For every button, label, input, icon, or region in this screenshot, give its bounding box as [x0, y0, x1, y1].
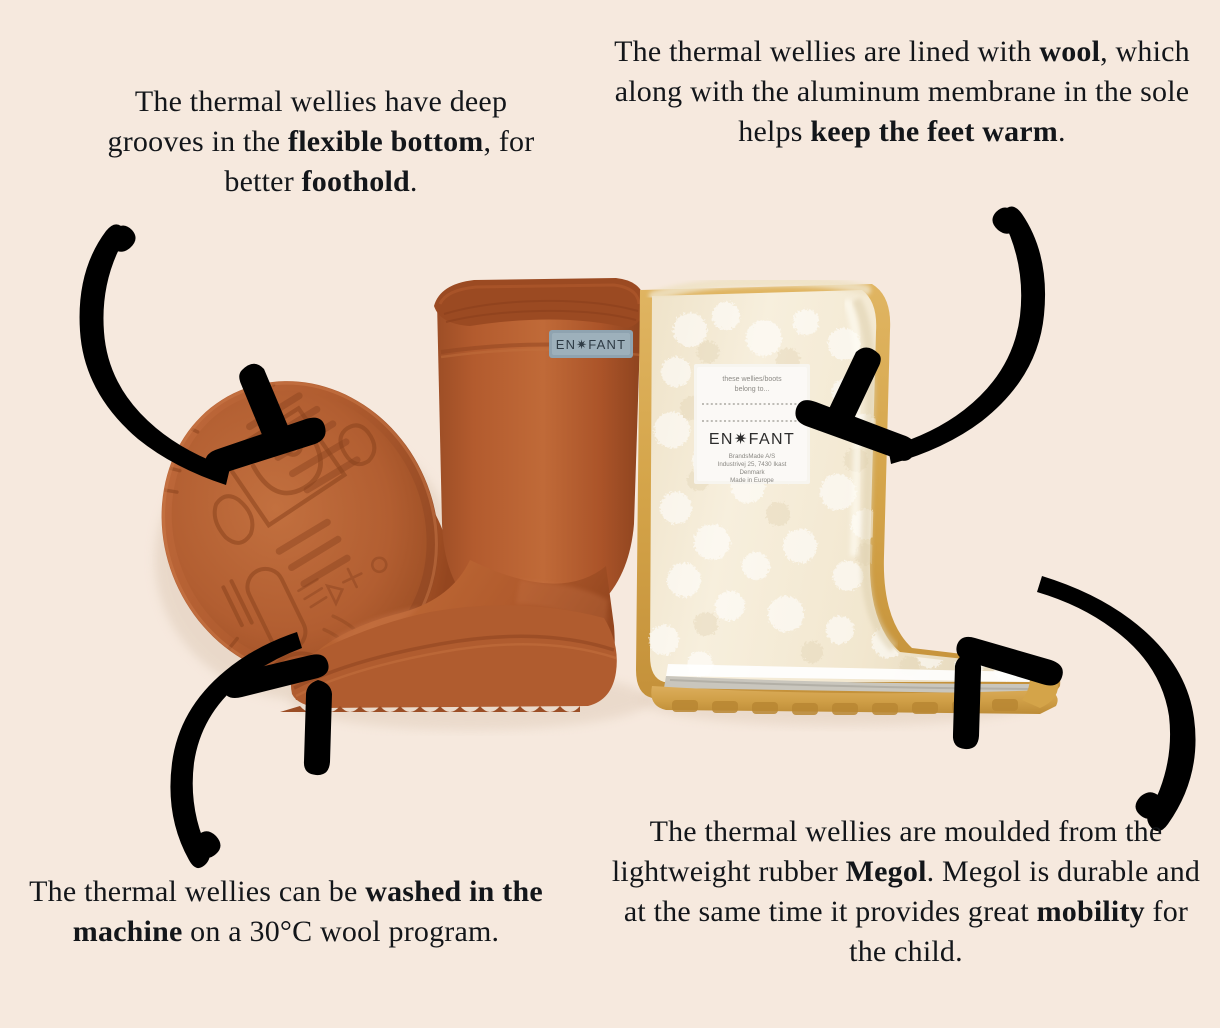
care-label-heading-1: these wellies/boots [722, 376, 782, 383]
callout-emphasis: foothold [302, 165, 410, 198]
care-label: these wellies/boots belong to... EN✷FANT… [694, 364, 810, 484]
arrow-to-boot-toe [170, 632, 332, 868]
callout-top-right: The thermal wellies are lined with wool,… [612, 32, 1192, 152]
callout-text: . [410, 165, 418, 198]
brand-label-text: EN✷FANT [556, 337, 627, 352]
brand-label-boot: EN✷FANT [549, 330, 633, 358]
callout-text: on a 30°C wool program. [182, 915, 499, 948]
callout-bottom-right: The thermal wellies are moulded from the… [604, 812, 1208, 972]
callout-emphasis: Megol [846, 855, 927, 888]
care-label-address-2: Denmark [739, 469, 765, 476]
callout-emphasis: keep the feet warm [810, 115, 1058, 148]
callout-text: The thermal wellies are lined with [614, 35, 1039, 68]
care-label-brand: EN✷FANT [709, 431, 795, 448]
callout-top-left: The thermal wellies have deep grooves in… [96, 82, 546, 202]
care-label-address-3: Made in Europe [730, 477, 774, 484]
callout-emphasis: flexible bottom [288, 125, 483, 158]
callout-bottom-left: The thermal wellies can be washed in the… [28, 872, 544, 952]
callout-text: The thermal wellies can be [29, 875, 365, 908]
infographic-canvas: EN✷FANT [0, 0, 1220, 1028]
care-label-address-1: Industrivej 25, 7430 Ikast [718, 461, 787, 468]
care-label-address-0: BrandsMade A/S [729, 453, 775, 460]
callout-emphasis: wool [1039, 35, 1100, 68]
callout-emphasis: mobility [1037, 895, 1145, 928]
care-label-heading-2: belong to... [735, 386, 770, 393]
callout-text: . [1058, 115, 1066, 148]
